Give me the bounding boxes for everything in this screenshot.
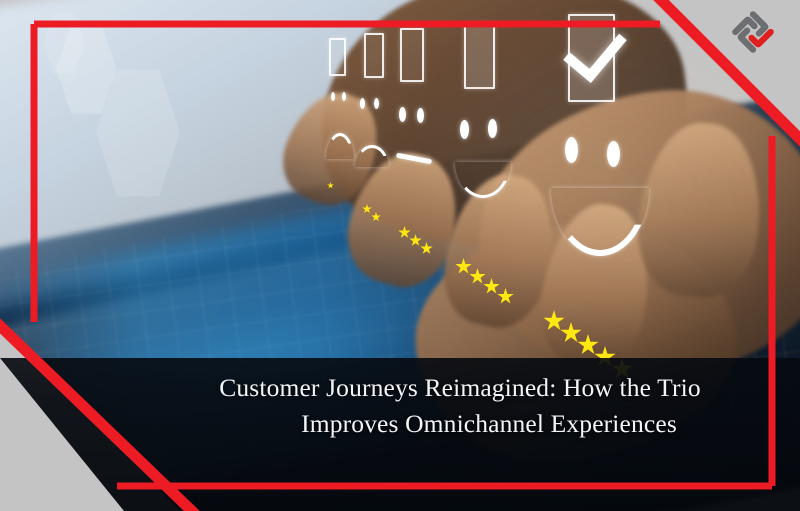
banner-root: Customer Journeys Reimagined: How the Tr… — [0, 0, 800, 511]
page-title: Customer Journeys Reimagined: How the Tr… — [0, 370, 770, 442]
face-eye — [417, 108, 424, 123]
face-eye — [374, 98, 379, 109]
title-line-2: Improves Omnichannel Experiences — [150, 406, 770, 442]
face-eye — [342, 92, 346, 101]
checkbox-icon-1 — [329, 38, 346, 76]
checkbox-icon-2 — [364, 33, 384, 78]
title-line-1: Customer Journeys Reimagined: How the Tr… — [150, 370, 770, 406]
face-eye — [607, 141, 620, 167]
face-eye — [399, 107, 406, 122]
face-eye — [488, 119, 497, 138]
checkbox-icon-3 — [400, 28, 424, 82]
face-eye — [331, 92, 335, 101]
checkbox-icon-4 — [464, 23, 495, 89]
face-eye — [360, 98, 365, 109]
face-eye — [460, 120, 469, 139]
company-logo[interactable] — [727, 6, 779, 58]
face-eye — [565, 137, 578, 163]
logo-icon[interactable] — [727, 6, 779, 58]
